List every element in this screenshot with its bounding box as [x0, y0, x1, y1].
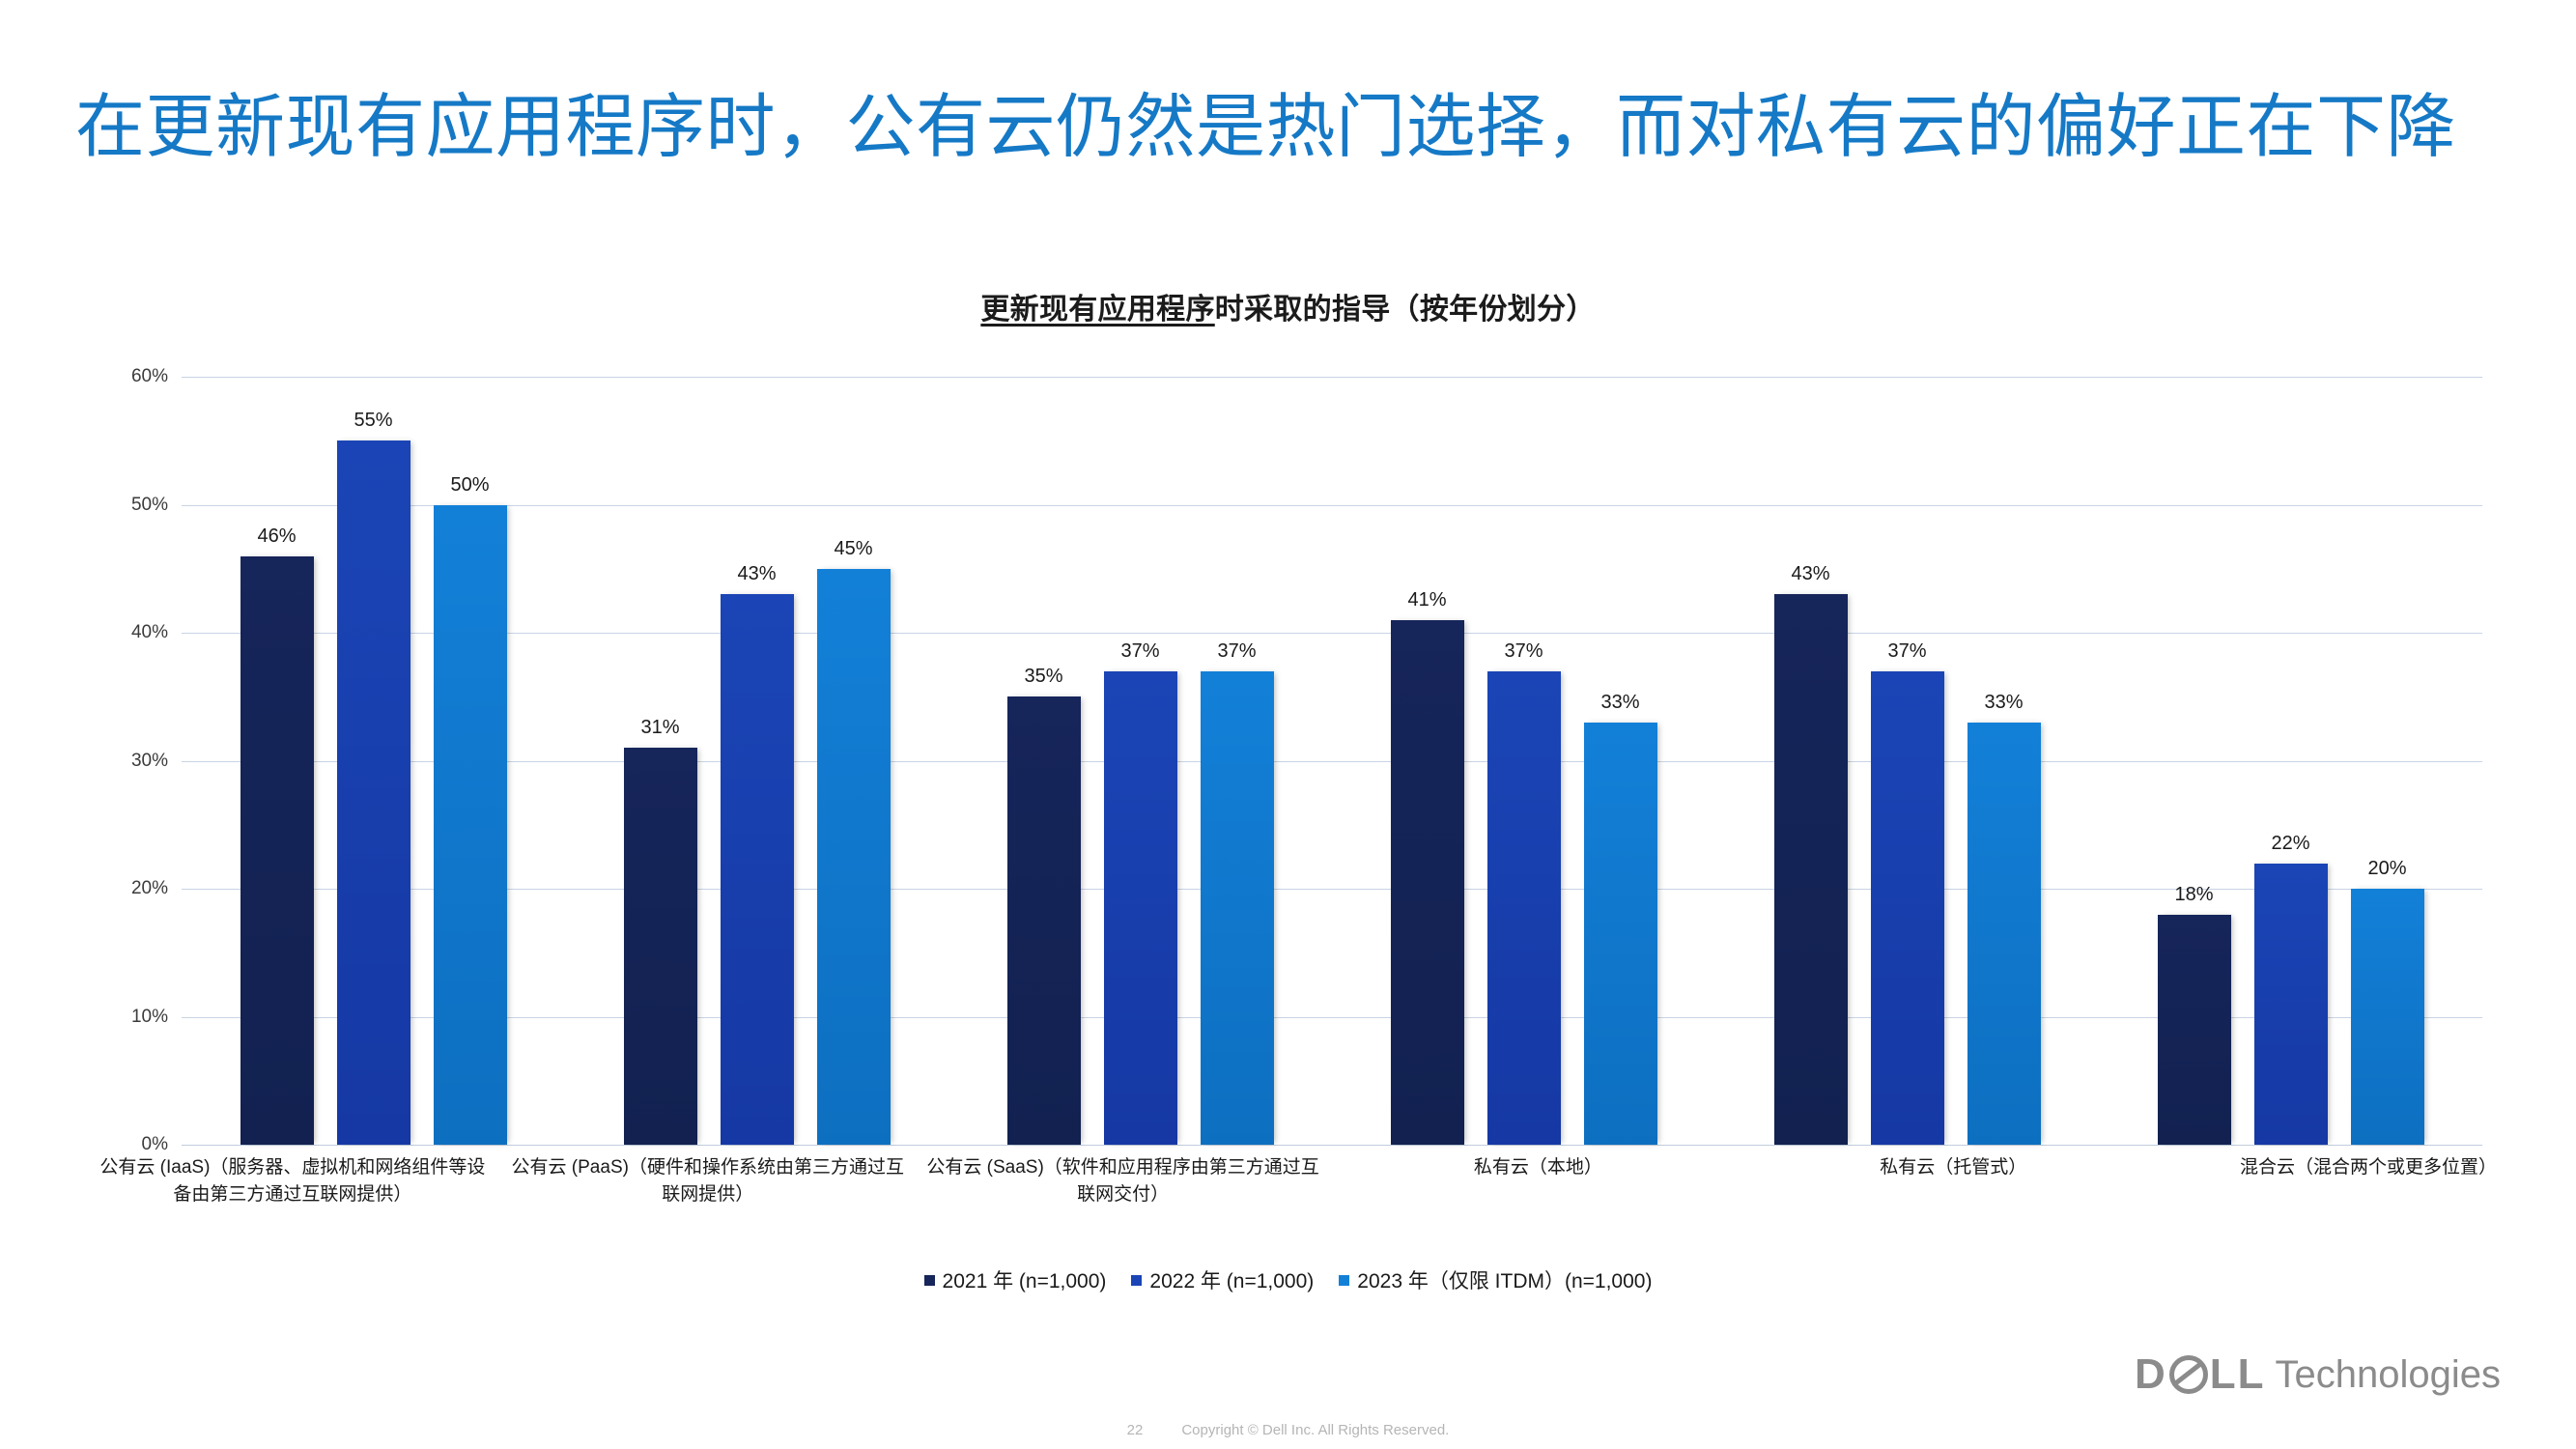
legend-label: 2022 年 (n=1,000): [1149, 1265, 1314, 1294]
page-title: 在更新现有应用程序时，公有云仍然是热门选择，而对私有云的偏好正在下降: [75, 87, 2509, 169]
bar-slot: 37%: [1871, 377, 1944, 1145]
bar-value-label: 37%: [1504, 640, 1543, 663]
x-axis-category-label: 混合云（混合两个或更多位置）: [2161, 1154, 2576, 1207]
bar-slot: 37%: [1201, 377, 1274, 1145]
bar[interactable]: 31%: [624, 748, 697, 1145]
bar[interactable]: 22%: [2254, 864, 2328, 1146]
bar-value-label: 37%: [1120, 640, 1159, 663]
bar-slot: 37%: [1487, 377, 1561, 1145]
y-axis-tick-label: 0%: [142, 1134, 168, 1155]
bar[interactable]: 33%: [1967, 723, 2041, 1145]
bar-slot: 50%: [434, 377, 507, 1145]
legend-swatch-icon: [1131, 1275, 1142, 1286]
dell-letter-d: D: [2135, 1350, 2167, 1399]
bar-group: 46%55%50%: [182, 377, 565, 1145]
bar-value-label: 33%: [1984, 692, 2023, 714]
y-axis-tick-label: 50%: [131, 495, 168, 516]
y-axis-tick-label: 40%: [131, 622, 168, 643]
bar[interactable]: 18%: [2158, 915, 2231, 1146]
dell-slash-oval-icon: [2169, 1355, 2208, 1394]
bar-value-label: 45%: [834, 538, 872, 560]
y-axis-tick-label: 10%: [131, 1007, 168, 1028]
dell-technologies-logo: DLL Technologies: [2135, 1350, 2501, 1399]
bar[interactable]: 55%: [337, 440, 410, 1145]
x-axis-category-label: 公有云 (PaaS)（硬件和操作系统由第三方通过互联网提供）: [500, 1154, 916, 1207]
chart-title-rest: 时采取的指导（按年份划分）: [1215, 294, 1596, 326]
y-axis-tick-label: 60%: [131, 366, 168, 387]
bar[interactable]: 41%: [1391, 620, 1464, 1145]
bar-value-label: 41%: [1407, 589, 1446, 611]
y-axis-tick-label: 20%: [131, 878, 168, 899]
bar[interactable]: 43%: [721, 594, 794, 1145]
bar-value-label: 20%: [2367, 858, 2406, 880]
chart-title: 更新现有应用程序时采取的指导（按年份划分）: [0, 285, 2576, 327]
bar-value-label: 37%: [1887, 640, 1926, 663]
x-axis-category-label: 公有云 (IaaS)（服务器、虚拟机和网络组件等设备由第三方通过互联网提供）: [85, 1154, 500, 1207]
bar-value-label: 35%: [1024, 666, 1062, 688]
bar-slot: 45%: [817, 377, 891, 1145]
bar[interactable]: 33%: [1584, 723, 1657, 1145]
bar[interactable]: 46%: [241, 556, 314, 1146]
bar[interactable]: 37%: [1871, 671, 1944, 1145]
dell-letters-ll: LL: [2210, 1350, 2266, 1399]
gridline: [182, 1145, 2482, 1146]
legend-item[interactable]: 2023 年（仅限 ITDM）(n=1,000): [1339, 1265, 1652, 1294]
bar-value-label: 50%: [450, 474, 489, 497]
chart-title-underlined: 更新现有应用程序: [980, 294, 1214, 326]
bar-group: 18%22%20%: [2099, 377, 2482, 1145]
bar[interactable]: 37%: [1104, 671, 1177, 1145]
legend-swatch-icon: [1339, 1275, 1349, 1286]
bar[interactable]: 45%: [817, 569, 891, 1145]
legend-item[interactable]: 2022 年 (n=1,000): [1131, 1265, 1314, 1294]
bar-slot: 55%: [337, 377, 410, 1145]
bar[interactable]: 50%: [434, 505, 507, 1146]
legend-swatch-icon: [924, 1275, 935, 1286]
bar-slot: 18%: [2158, 377, 2231, 1145]
legend-item[interactable]: 2021 年 (n=1,000): [924, 1265, 1107, 1294]
bar-value-label: 46%: [257, 526, 296, 548]
bar-value-label: 22%: [2271, 833, 2309, 855]
bar-value-label: 18%: [2174, 884, 2213, 906]
bar[interactable]: 37%: [1487, 671, 1561, 1145]
bar[interactable]: 35%: [1007, 696, 1081, 1145]
bar[interactable]: 37%: [1201, 671, 1274, 1145]
bar-chart: 60%50%40%30%20%10%0% 46%55%50%31%43%45%3…: [97, 377, 2482, 1145]
technologies-wordmark: Technologies: [2276, 1353, 2502, 1397]
bar-slot: 22%: [2254, 377, 2328, 1145]
bar-slot: 33%: [1967, 377, 2041, 1145]
bar[interactable]: 43%: [1774, 594, 1848, 1145]
plot-area: 60%50%40%30%20%10%0% 46%55%50%31%43%45%3…: [182, 377, 2482, 1145]
bar-slot: 31%: [624, 377, 697, 1145]
bar-slot: 20%: [2351, 377, 2424, 1145]
bar-group: 41%37%33%: [1332, 377, 1715, 1145]
x-axis-category-label: 私有云（托管式）: [1745, 1154, 2161, 1207]
bar-slot: 46%: [241, 377, 314, 1145]
bar-slot: 35%: [1007, 377, 1081, 1145]
bar-slot: 41%: [1391, 377, 1464, 1145]
bar-group: 43%37%33%: [1715, 377, 2099, 1145]
bar-groups: 46%55%50%31%43%45%35%37%37%41%37%33%43%3…: [182, 377, 2482, 1145]
bar-value-label: 43%: [1791, 563, 1829, 585]
copyright-text: Copyright © Dell Inc. All Rights Reserve…: [1181, 1422, 1449, 1438]
legend-label: 2023 年（仅限 ITDM）(n=1,000): [1357, 1265, 1652, 1294]
dell-wordmark: DLL: [2135, 1350, 2266, 1399]
bar-slot: 33%: [1584, 377, 1657, 1145]
bar-slot: 43%: [721, 377, 794, 1145]
bar-group: 35%37%37%: [948, 377, 1332, 1145]
y-axis-tick-label: 30%: [131, 751, 168, 772]
bar-value-label: 37%: [1217, 640, 1256, 663]
bar-value-label: 31%: [640, 717, 679, 739]
bar[interactable]: 20%: [2351, 889, 2424, 1145]
bar-value-label: 55%: [354, 410, 392, 432]
chart-legend: 2021 年 (n=1,000)2022 年 (n=1,000)2023 年（仅…: [0, 1265, 2576, 1294]
legend-label: 2021 年 (n=1,000): [943, 1265, 1107, 1294]
x-axis-category-label: 公有云 (SaaS)（软件和应用程序由第三方通过互联网交付）: [916, 1154, 1331, 1207]
bar-slot: 43%: [1774, 377, 1848, 1145]
slide-footer: 22Copyright © Dell Inc. All Rights Reser…: [0, 1422, 2576, 1438]
bar-value-label: 33%: [1600, 692, 1639, 714]
x-axis-labels: 公有云 (IaaS)（服务器、虚拟机和网络组件等设备由第三方通过互联网提供）公有…: [85, 1154, 2576, 1207]
bar-group: 31%43%45%: [565, 377, 948, 1145]
bar-slot: 37%: [1104, 377, 1177, 1145]
bar-value-label: 43%: [737, 563, 776, 585]
page-number: 22: [1127, 1422, 1144, 1438]
x-axis-category-label: 私有云（本地）: [1330, 1154, 1745, 1207]
